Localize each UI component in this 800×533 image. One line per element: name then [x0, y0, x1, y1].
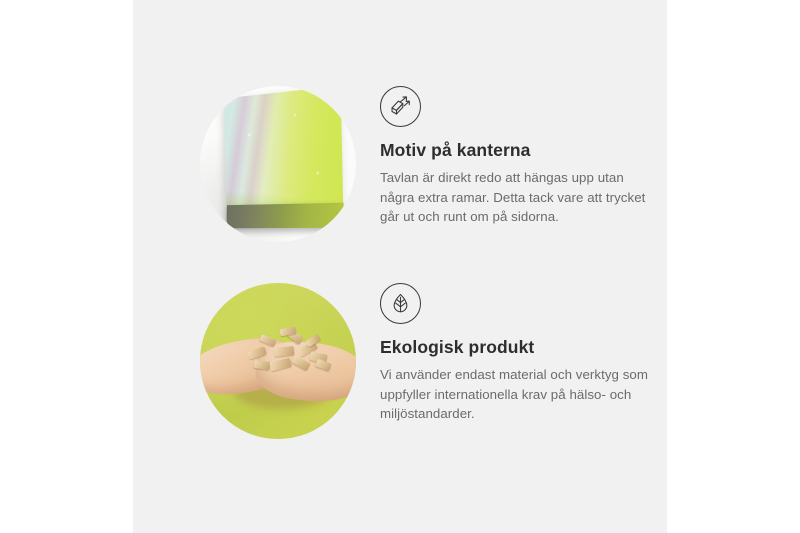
canvas-photo-background [200, 86, 356, 242]
feature-copy-eco: Ekologisk produkt Vi använder endast mat… [380, 283, 652, 424]
feature-copy-edges: Motiv på kanterna Tavlan är direkt redo … [380, 86, 652, 227]
canvas-print-side-edge [227, 203, 344, 229]
feature-body-edges: Tavlan är direkt redo att hängas upp uta… [380, 168, 652, 227]
feature-title-eco: Ekologisk produkt [380, 337, 652, 358]
canvas-wrap-icon [380, 86, 421, 127]
canvas-corner-photo [200, 86, 356, 242]
hands-wood-chips-photo [200, 283, 356, 439]
feature-body-eco: Vi använder endast material och verktyg … [380, 365, 652, 424]
product-feature-page: Motiv på kanterna Tavlan är direkt redo … [0, 0, 800, 533]
feature-title-edges: Motiv på kanterna [380, 140, 652, 161]
wood-chips-pile [246, 327, 332, 375]
feature-block-edges: Motiv på kanterna Tavlan är direkt redo … [133, 86, 667, 246]
product-panel: Motiv på kanterna Tavlan är direkt redo … [133, 0, 667, 533]
feature-block-eco: Ekologisk produkt Vi använder endast mat… [133, 283, 667, 443]
leaf-icon [380, 283, 421, 324]
eco-photo-background [200, 283, 356, 439]
